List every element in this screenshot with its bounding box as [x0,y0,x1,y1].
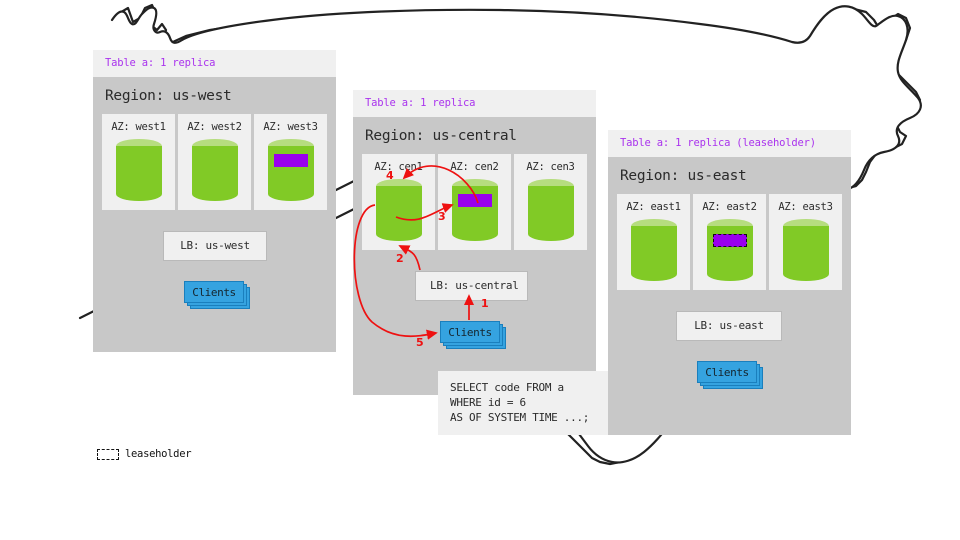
step-number-3: 3 [438,210,446,223]
az-panel-east3[interactable]: AZ: east3 [769,194,842,290]
region-title-us-west: Region: us-west [93,77,336,114]
az-panel-cen1[interactable]: AZ: cen1 [362,154,435,250]
step-number-1: 1 [481,297,489,310]
node-cylinder-west2[interactable] [192,139,238,201]
region-header-us-central: Table a: 1 replica [353,90,596,117]
az-label-east3: AZ: east3 [778,201,832,213]
clients-stack-us-east[interactable]: Clients [697,361,763,387]
load-balancer-us-west[interactable]: LB: us-west [163,231,267,261]
node-cylinder-cen2[interactable] [452,179,498,241]
clients-stack-us-west[interactable]: Clients [184,281,250,307]
load-balancer-us-central[interactable]: LB: us-central [415,271,528,301]
step-number-4: 4 [386,169,394,182]
az-label-cen1: AZ: cen1 [374,161,422,173]
step-number-5: 5 [416,336,424,349]
az-panel-east2[interactable]: AZ: east2 [693,194,766,290]
az-label-east1: AZ: east1 [626,201,680,213]
sql-query-callout: SELECT code FROM a WHERE id = 6 AS OF SY… [438,371,612,435]
clients-card-front[interactable]: Clients [440,321,500,343]
az-panel-east1[interactable]: AZ: east1 [617,194,690,290]
leaseholder-swatch-icon [97,449,119,460]
node-cylinder-east1[interactable] [631,219,677,281]
node-cylinder-cen3[interactable] [528,179,574,241]
region-title-us-east: Region: us-east [608,157,851,194]
az-strip-us-west: AZ: west1 AZ: west2 AZ [102,114,327,210]
az-label-cen2: AZ: cen2 [450,161,498,173]
region-body-us-west: Region: us-west AZ: west1 AZ: west2 [93,77,336,352]
replica-block-east2-leaseholder [713,234,747,247]
clients-card-front[interactable]: Clients [697,361,757,383]
load-balancer-us-east[interactable]: LB: us-east [676,311,782,341]
az-label-cen3: AZ: cen3 [526,161,574,173]
az-strip-us-central: AZ: cen1 AZ: cen2 [362,154,587,250]
az-strip-us-east: AZ: east1 AZ: east2 [617,194,842,290]
node-cylinder-east3[interactable] [783,219,829,281]
legend: leaseholder [97,448,191,460]
az-label-west1: AZ: west1 [111,121,165,133]
region-title-us-central: Region: us-central [353,117,596,154]
region-body-us-central: Region: us-central AZ: cen1 AZ: cen2 [353,117,596,395]
cylinder-body [116,146,162,194]
region-header-us-east: Table a: 1 replica (leaseholder) [608,130,851,157]
az-label-west3: AZ: west3 [263,121,317,133]
region-body-us-east: Region: us-east AZ: east1 AZ: east2 [608,157,851,435]
node-cylinder-west1[interactable] [116,139,162,201]
replica-block-west3 [274,154,308,167]
node-cylinder-east2[interactable] [707,219,753,281]
cylinder-body [783,226,829,274]
clients-stack-us-central[interactable]: Clients [440,321,506,347]
az-panel-west1[interactable]: AZ: west1 [102,114,175,210]
az-panel-cen3[interactable]: AZ: cen3 [514,154,587,250]
diagram-canvas: Table a: 1 replica Region: us-west AZ: w… [0,0,960,540]
node-cylinder-cen1[interactable] [376,179,422,241]
clients-card-front[interactable]: Clients [184,281,244,303]
az-label-west2: AZ: west2 [187,121,241,133]
cylinder-body [528,186,574,234]
az-panel-west3[interactable]: AZ: west3 [254,114,327,210]
step-number-2: 2 [396,252,404,265]
cylinder-body [376,186,422,234]
replica-block-cen2 [458,194,492,207]
az-panel-west2[interactable]: AZ: west2 [178,114,251,210]
az-label-east2: AZ: east2 [702,201,756,213]
az-panel-cen2[interactable]: AZ: cen2 [438,154,511,250]
cylinder-body [631,226,677,274]
legend-label: leaseholder [125,448,191,460]
region-header-us-west: Table a: 1 replica [93,50,336,77]
cylinder-body [192,146,238,194]
node-cylinder-west3[interactable] [268,139,314,201]
